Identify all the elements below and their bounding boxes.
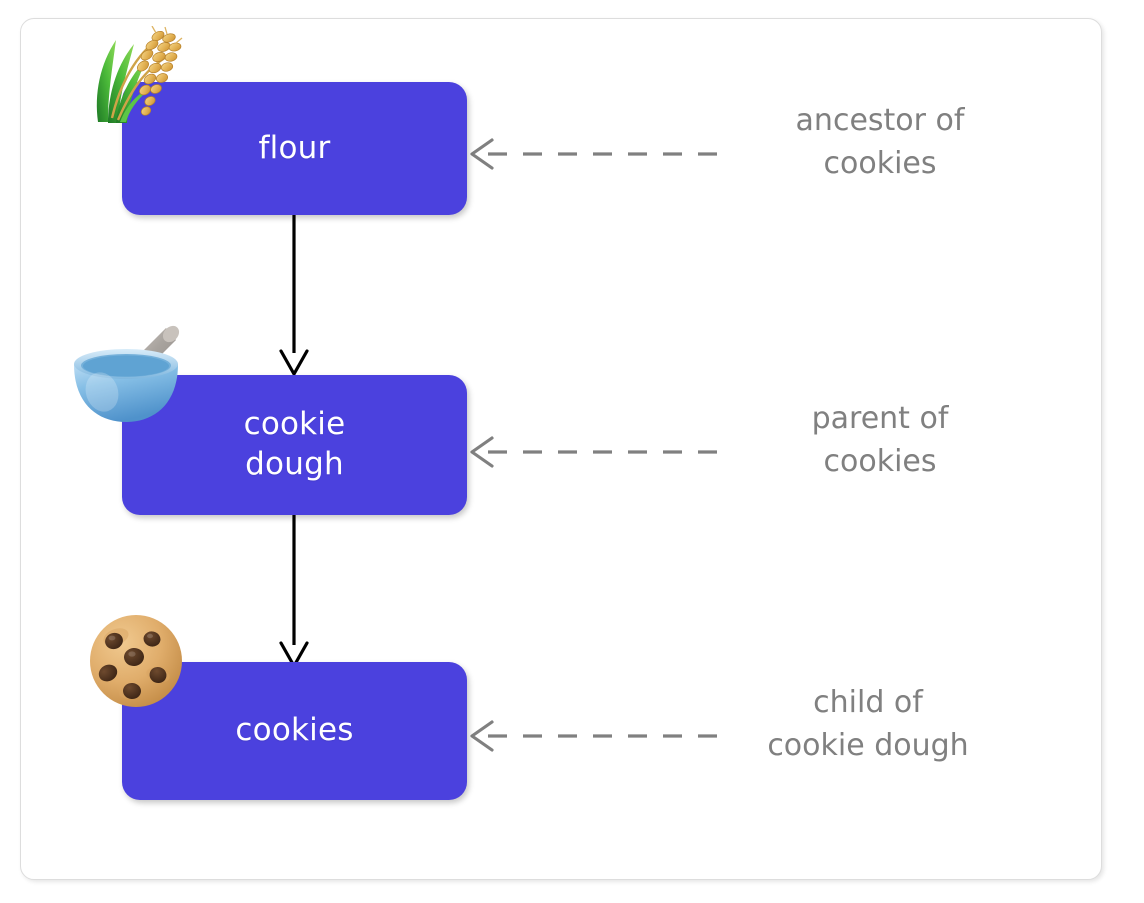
annotation-parent-of-cookies: parent of cookies <box>740 398 1020 483</box>
diagram-canvas: flour cookie dough cookies <box>0 0 1144 903</box>
annotation-child-of-cookie-dough: child of cookie dough <box>716 682 1020 767</box>
node-cookie-dough[interactable]: cookie dough <box>122 375 467 515</box>
annotation-ancestor-of-cookies: ancestor of cookies <box>740 100 1020 185</box>
dashed-arrow-ancestor <box>468 136 734 172</box>
dashed-arrow-child <box>468 718 734 754</box>
node-cookie-dough-label: cookie dough <box>244 405 346 484</box>
connector-dough-to-cookies <box>264 512 324 670</box>
node-flour[interactable]: flour <box>122 82 467 215</box>
node-cookies[interactable]: cookies <box>122 662 467 800</box>
node-flour-label: flour <box>259 129 331 169</box>
node-cookies-label: cookies <box>235 711 353 751</box>
dashed-arrow-parent <box>468 434 734 470</box>
connector-flour-to-dough <box>264 213 324 378</box>
